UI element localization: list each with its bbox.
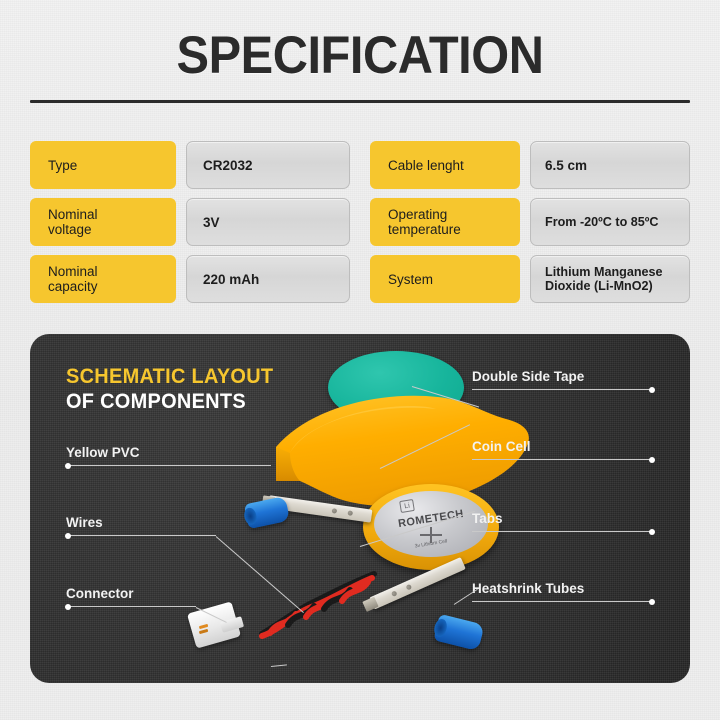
- spec-label: Nominal capacity: [30, 255, 176, 303]
- title-divider: [30, 100, 690, 103]
- callout-dot: [65, 533, 71, 539]
- page-title: SPECIFICATION: [29, 28, 691, 84]
- callout-coin-cell: Coin Cell: [472, 432, 654, 466]
- callout-dot: [65, 604, 71, 610]
- callout-connector: Connector: [66, 579, 196, 613]
- callout-heatshrink-tubes: Heatshrink Tubes: [472, 574, 654, 608]
- spec-row: Nominal voltage 3V: [30, 198, 350, 246]
- callout-dot: [649, 529, 655, 535]
- callout-double-side-tape: Double Side Tape: [472, 362, 654, 396]
- callout-label: Double Side Tape: [472, 369, 584, 384]
- spec-row: Type CR2032: [30, 141, 350, 189]
- callout-yellow-pvc: Yellow PVC: [66, 438, 271, 472]
- callout-line: [66, 465, 271, 466]
- callout-label: Tabs: [472, 511, 503, 526]
- callout-label: Heatshrink Tubes: [472, 581, 584, 596]
- schematic-panel: SCHEMATIC LAYOUT OF COMPONENTS: [30, 334, 690, 683]
- callout-label: Wires: [66, 515, 103, 530]
- spec-row: Cable lenght 6.5 cm: [370, 141, 690, 189]
- spec-value: 6.5 cm: [530, 141, 690, 189]
- callout-label: Coin Cell: [472, 439, 531, 454]
- spec-value: Lithium Manganese Dioxide (Li-MnO2): [530, 255, 690, 303]
- callout-line: [66, 606, 196, 607]
- callout-line: [472, 459, 654, 460]
- callout-tabs: Tabs: [472, 504, 654, 538]
- header: SPECIFICATION: [0, 0, 720, 118]
- callout-wires: Wires: [66, 508, 216, 542]
- spec-row: System Lithium Manganese Dioxide (Li-MnO…: [370, 255, 690, 303]
- callout-dot: [65, 463, 71, 469]
- spec-label: System: [370, 255, 520, 303]
- specification-table: Type CR2032 Nominal voltage 3V Nominal c…: [30, 141, 690, 306]
- callout-dot: [649, 387, 655, 393]
- spec-column-left: Type CR2032 Nominal voltage 3V Nominal c…: [30, 141, 350, 306]
- spec-column-right: Cable lenght 6.5 cm Operating temperatur…: [370, 141, 690, 306]
- spec-label: Nominal voltage: [30, 198, 176, 246]
- spec-value: From -20ºC to 85ºC: [530, 198, 690, 246]
- spec-label: Operating temperature: [370, 198, 520, 246]
- spec-label: Cable lenght: [370, 141, 520, 189]
- spec-row: Nominal capacity 220 mAh: [30, 255, 350, 303]
- spec-label: Type: [30, 141, 176, 189]
- spec-row: Operating temperature From -20ºC to 85ºC: [370, 198, 690, 246]
- callout-line: [472, 389, 654, 390]
- callout-line: [472, 531, 654, 532]
- callout-label: Yellow PVC: [66, 445, 140, 460]
- callout-dot: [649, 457, 655, 463]
- callout-line: [66, 535, 216, 536]
- spec-value: CR2032: [186, 141, 350, 189]
- spec-value: 3V: [186, 198, 350, 246]
- callout-line: [472, 601, 654, 602]
- spec-value: 220 mAh: [186, 255, 350, 303]
- callout-dot: [649, 599, 655, 605]
- callout-label: Connector: [66, 586, 134, 601]
